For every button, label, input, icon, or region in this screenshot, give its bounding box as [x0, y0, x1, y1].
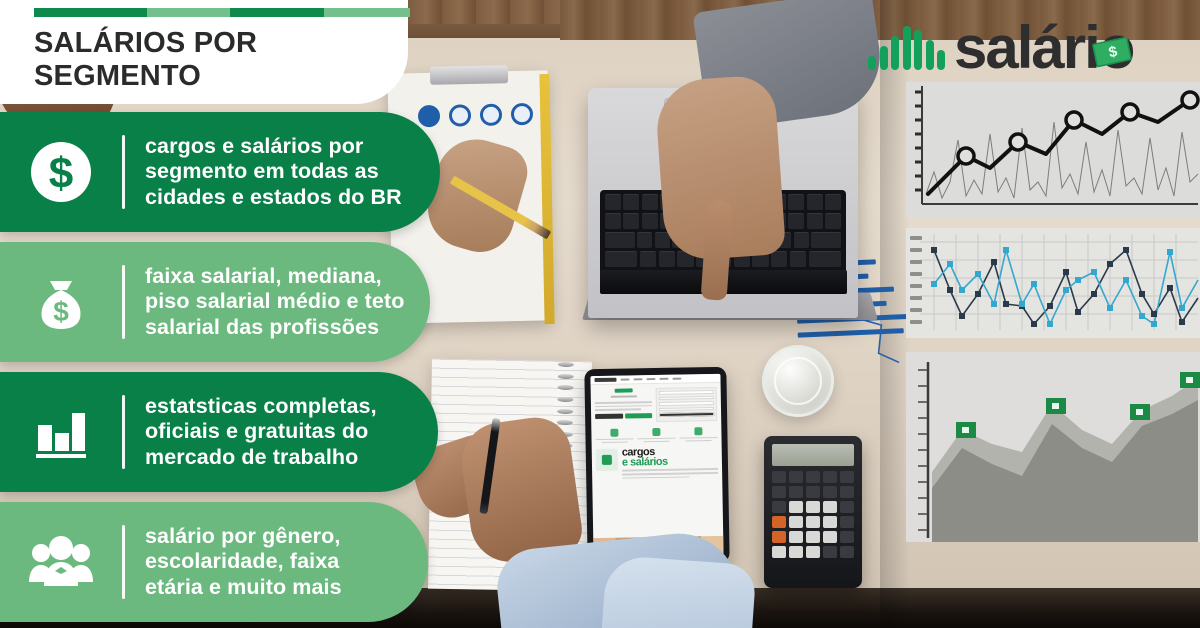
tablet-screen: cargose salários [590, 374, 723, 558]
tablet-feature-image [596, 449, 618, 471]
bar-chart-icon [0, 401, 122, 463]
feature-text-3: estatsticas completas, oficiais e gratui… [125, 394, 377, 469]
feature-line: cargos e salários por [145, 134, 402, 159]
infographic-banner: cargose salários [0, 0, 1200, 628]
calculator-keypad [772, 471, 854, 558]
badge-divider [122, 395, 125, 469]
feature-line: segmento em todas as [145, 159, 402, 184]
shirt-cuff [601, 555, 756, 628]
feature-line: faixa salarial, mediana, [145, 264, 405, 289]
water-glass [762, 345, 834, 417]
money-bag-icon: $ [0, 271, 122, 333]
clipboard-circle-icon [449, 104, 471, 126]
tablet-headline-green: e salários [622, 455, 668, 468]
logo-wordmark: salário $ [954, 18, 1133, 78]
badge-divider [122, 135, 125, 209]
chart-panel-trend [906, 82, 1200, 218]
hand-with-pen [457, 413, 585, 567]
clipboard-icon-row [418, 103, 546, 128]
feature-text-4: salário por gênero, escolaridade, faixa … [125, 524, 342, 599]
page-title: SALÁRIOS POR SEGMENTO [34, 27, 408, 93]
chart-panel-area [906, 352, 1200, 542]
feature-badge-2[interactable]: $ faixa salarial, mediana, piso salarial… [0, 242, 430, 362]
chart-panel-dual-series [906, 228, 1200, 338]
dual-line-chart [906, 228, 1200, 338]
feature-line: mercado de trabalho [145, 445, 377, 470]
svg-text:$: $ [49, 149, 73, 198]
clipboard-circle-icon [418, 105, 440, 127]
badge-divider [122, 525, 125, 599]
feature-line: piso salarial médio e teto [145, 289, 405, 314]
feature-badge-4[interactable]: salário por gênero, escolaridade, faixa … [0, 502, 428, 622]
title-accent-bar [34, 8, 410, 17]
badge-divider [122, 265, 125, 339]
clipboard-circle-icon [511, 103, 533, 125]
calculator-display [772, 444, 854, 466]
feature-line: salarial das profissões [145, 315, 405, 340]
feature-text-2: faixa salarial, mediana, piso salarial m… [125, 264, 405, 339]
feature-line: etária e muito mais [145, 575, 342, 600]
feature-line: oficiais e gratuitas do [145, 419, 377, 444]
feature-line: cidades e estados do BR [145, 185, 402, 210]
calculator [764, 436, 862, 588]
people-group-icon [0, 534, 122, 590]
feature-text-1: cargos e salários por segmento em todas … [125, 134, 402, 209]
equalizer-bars-icon [868, 26, 945, 70]
trend-line-chart [906, 82, 1200, 218]
brand-logo[interactable]: salário $ [868, 18, 1133, 78]
title-card: SALÁRIOS POR SEGMENTO [0, 0, 408, 104]
feature-line: salário por gênero, [145, 524, 342, 549]
feature-line: estatsticas completas, [145, 394, 377, 419]
area-chart [906, 352, 1200, 542]
feature-badge-1[interactable]: $ cargos e salários por segmento em toda… [0, 112, 440, 232]
feature-badge-3[interactable]: estatsticas completas, oficiais e gratui… [0, 372, 438, 492]
dollar-circle-icon: $ [0, 141, 122, 203]
clipboard-clip [430, 65, 508, 85]
clipboard-circle-icon [480, 104, 502, 126]
feature-line: escolaridade, faixa [145, 549, 342, 574]
svg-text:$: $ [53, 296, 69, 327]
